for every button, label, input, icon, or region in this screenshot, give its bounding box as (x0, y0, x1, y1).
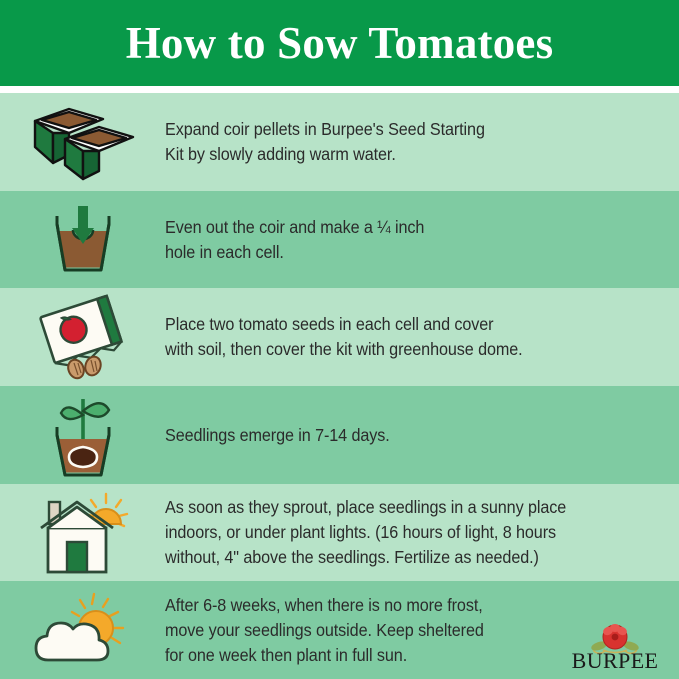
step-6-icon-cell (0, 588, 165, 672)
step-row-6: After 6-8 weeks, when there is no more f… (0, 581, 679, 679)
step-row-2: Even out the coir and make a ¼ inch hole… (0, 191, 679, 289)
step-4-text-cell: Seedlings emerge in 7-14 days. (165, 423, 679, 448)
step-row-5: As soon as they sprout, place seedlings … (0, 484, 679, 582)
step-1-text-cell: Expand coir pellets in Burpee's Seed Sta… (165, 117, 679, 166)
step-row-4: Seedlings emerge in 7-14 days. (0, 386, 679, 484)
step-4-text: Seedlings emerge in 7-14 days. (165, 423, 626, 448)
page-title: How to Sow Tomatoes (126, 21, 554, 66)
house-with-sun-icon (29, 490, 137, 576)
step-1-icon-cell (0, 103, 165, 181)
seedling-in-pot-icon (33, 389, 133, 481)
burpee-wordmark: BURPEE (572, 648, 659, 673)
header-banner: How to Sow Tomatoes (0, 0, 679, 86)
seed-packet-icon (31, 293, 135, 381)
infographic-root: How to Sow Tomatoes (0, 0, 679, 679)
step-5-text-cell: As soon as they sprout, place seedlings … (165, 495, 679, 569)
step-6-text: After 6-8 weeks, when there is no more f… (165, 593, 626, 667)
step-1-text: Expand coir pellets in Burpee's Seed Sta… (165, 117, 626, 166)
steps-list: Expand coir pellets in Burpee's Seed Sta… (0, 93, 679, 679)
cloud-with-sun-icon (28, 588, 138, 672)
step-4-icon-cell (0, 389, 165, 481)
step-2-text: Even out the coir and make a ¼ inch hole… (165, 215, 626, 264)
burpee-logo: BURPEE (563, 615, 667, 673)
header-divider (0, 86, 679, 93)
step-row-3: Place two tomato seeds in each cell and … (0, 288, 679, 386)
step-3-text-cell: Place two tomato seeds in each cell and … (165, 312, 679, 361)
step-2-text-cell: Even out the coir and make a ¼ inch hole… (165, 215, 679, 264)
step-3-icon-cell (0, 293, 165, 381)
seed-starting-tray-icon (29, 103, 137, 181)
step-2-icon-cell (0, 200, 165, 280)
step-row-1: Expand coir pellets in Burpee's Seed Sta… (0, 93, 679, 191)
step-5-icon-cell (0, 490, 165, 576)
step-3-text: Place two tomato seeds in each cell and … (165, 312, 626, 361)
pot-with-arrow-icon (37, 200, 129, 280)
step-5-text: As soon as they sprout, place seedlings … (165, 495, 626, 569)
